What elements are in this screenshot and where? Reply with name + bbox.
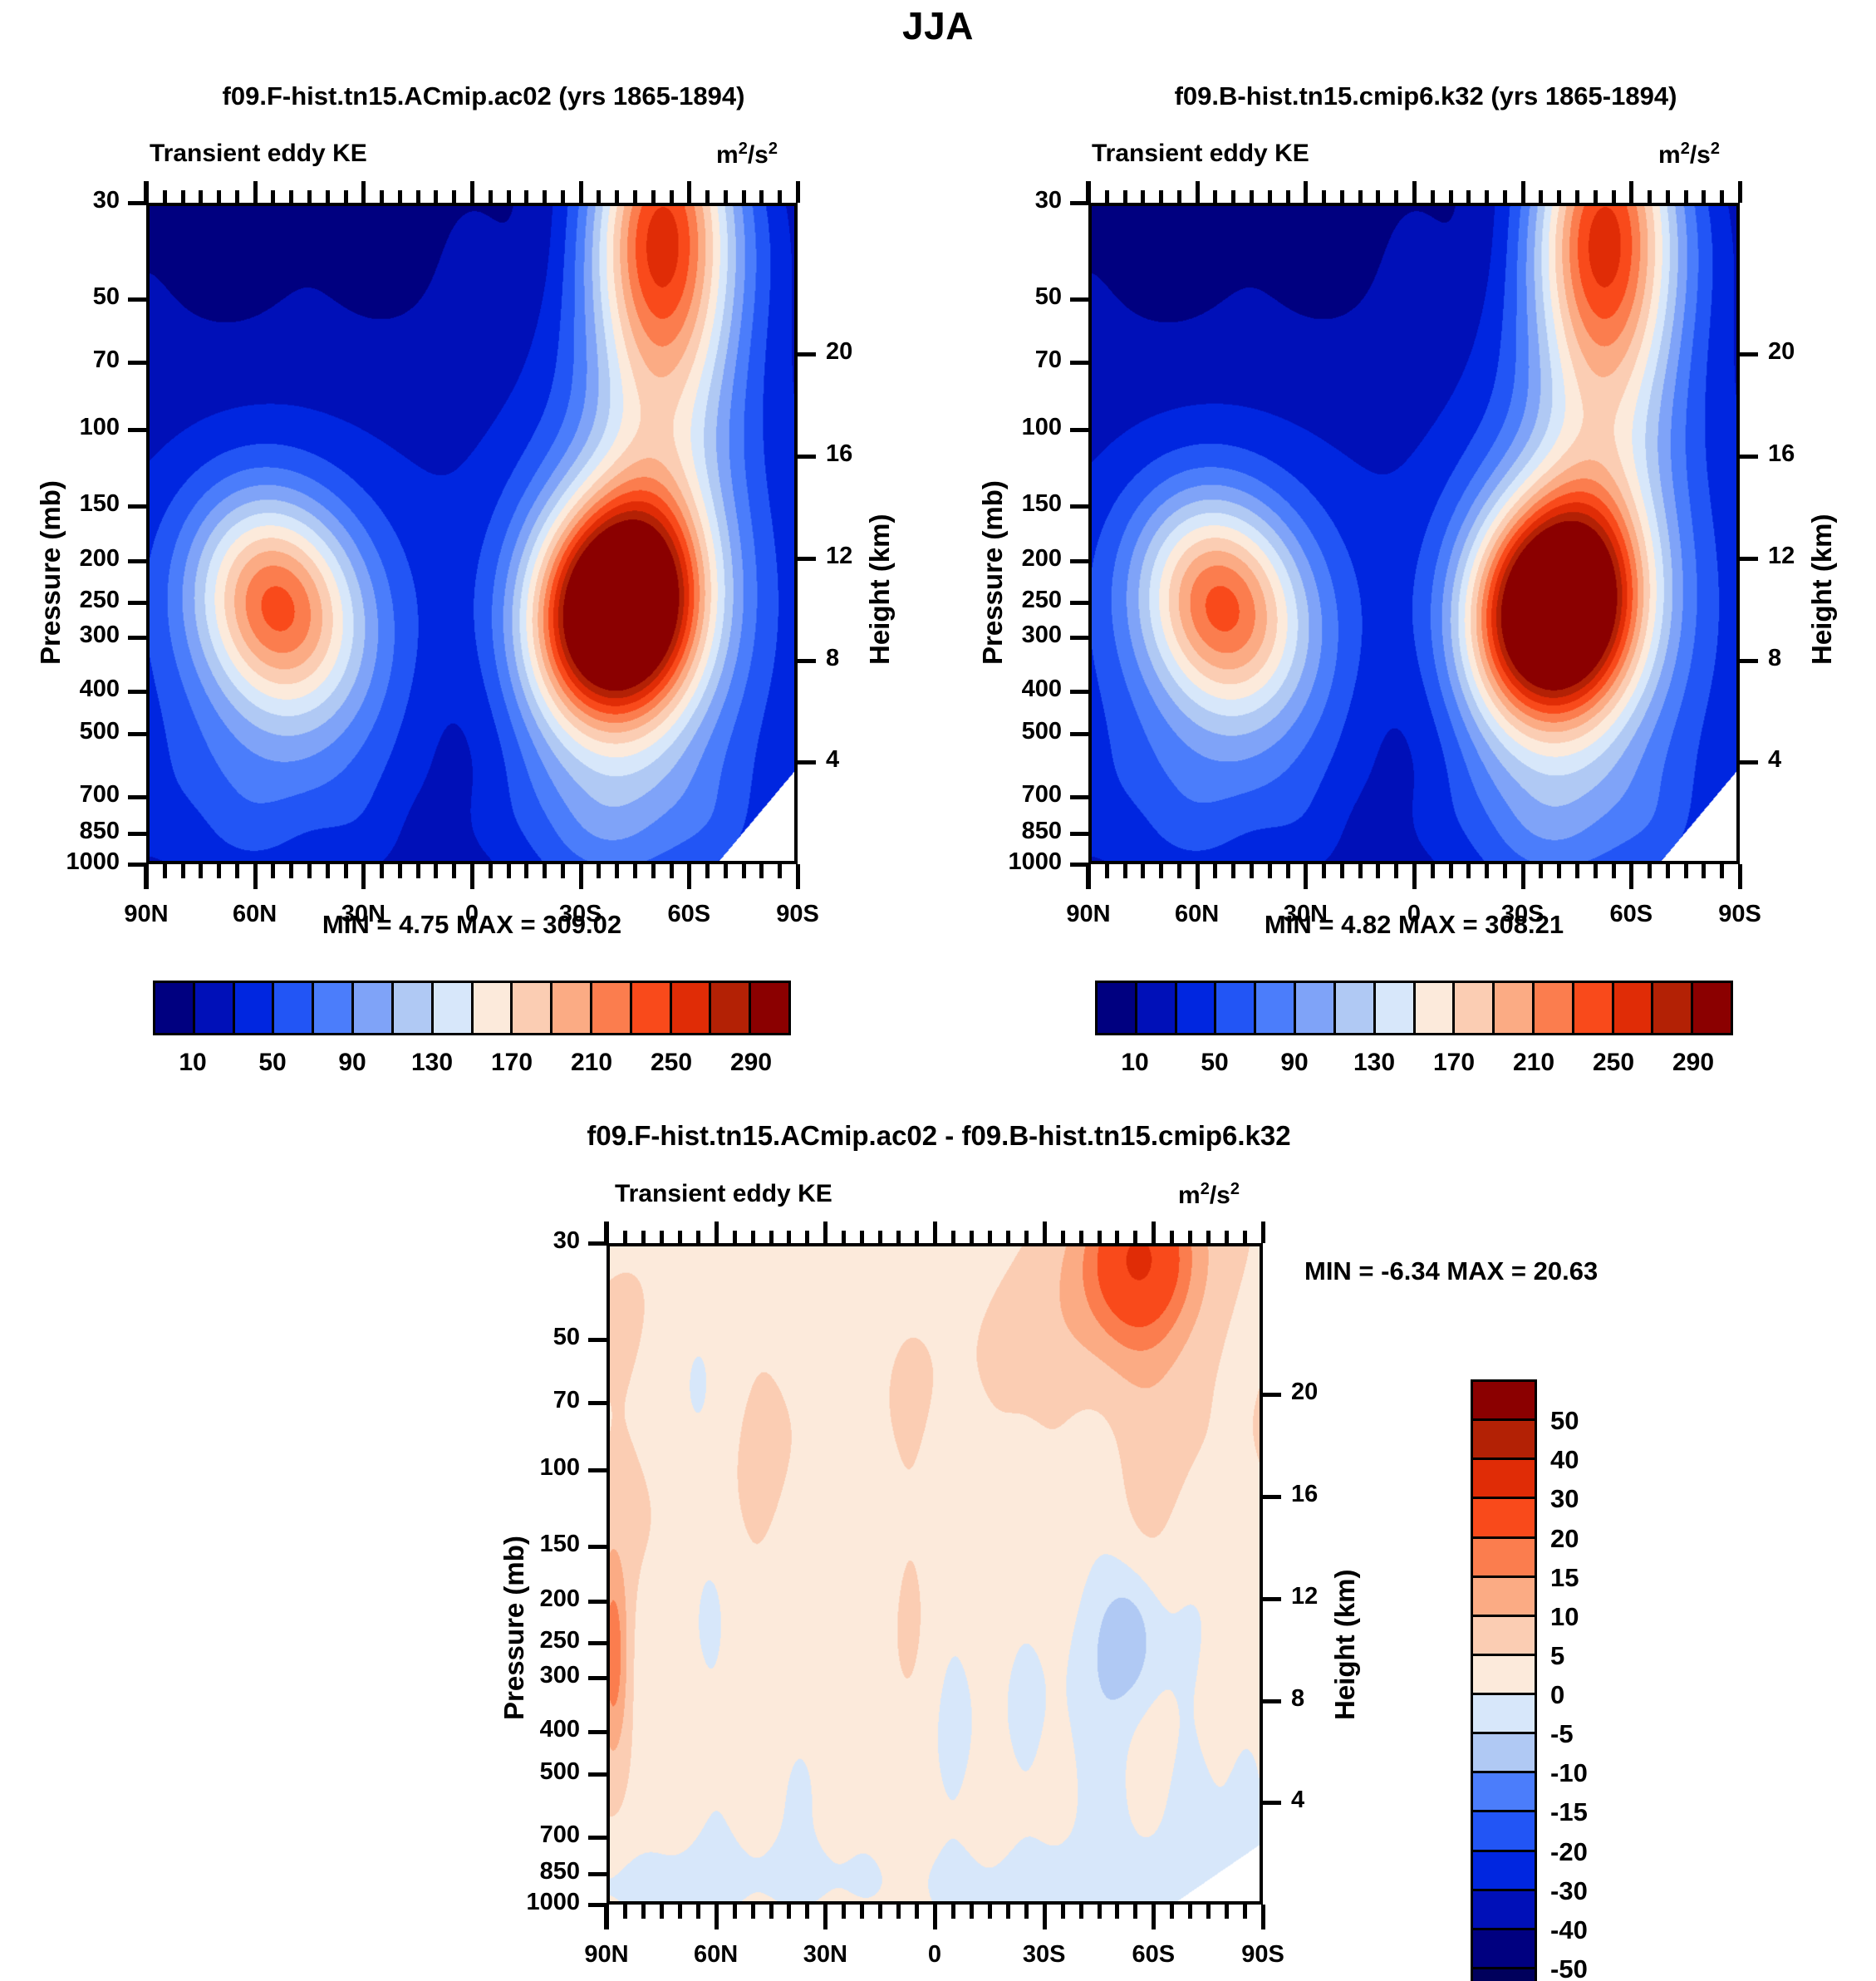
ytick-label: 150 (931, 490, 1062, 518)
y2tick-label: 8 (826, 645, 901, 672)
xtick-top-minor (696, 1231, 700, 1243)
colorbar-cell (235, 983, 275, 1033)
ytick-label: 100 (931, 414, 1062, 441)
colorbar-cell (592, 983, 632, 1033)
ytick-label: 700 (449, 1821, 580, 1849)
colorbar-cell (1296, 983, 1336, 1033)
colorbar-cell (1473, 1617, 1535, 1656)
xtick-bottom-minor (878, 1905, 882, 1919)
colorbar-cell (1256, 983, 1296, 1033)
xtick-top-minor (759, 190, 764, 203)
xtick-top-minor (1159, 190, 1163, 203)
xtick-bottom-minor (489, 864, 493, 878)
ytick-label: 70 (931, 347, 1062, 374)
ytick-label: 500 (449, 1758, 580, 1786)
xtick-bottom-minor (235, 864, 239, 878)
xtick-top-minor (641, 1231, 646, 1243)
xtick-top-minor (507, 190, 511, 203)
xtick-bottom-minor (696, 1905, 700, 1919)
ytick-label: 100 (0, 414, 120, 441)
colorbar-tick-label: -15 (1550, 1797, 1588, 1827)
xtick-top-minor (524, 190, 528, 203)
ytick-major (128, 690, 146, 694)
panel-title-top-left: f09.F-hist.tn15.ACmip.ac02 (yrs 1865-189… (52, 81, 916, 111)
xtick-bottom-minor (1268, 864, 1272, 878)
xtick-top-minor (1648, 190, 1652, 203)
xtick-top-minor (1231, 190, 1235, 203)
plot-area-difference (607, 1243, 1263, 1905)
minmax-difference: MIN = -6.34 MAX = 20.63 (1304, 1256, 1820, 1286)
xtick-top-minor (651, 190, 656, 203)
colorbar-cell (1473, 1734, 1535, 1773)
figure-title: JJA (0, 3, 1876, 48)
colorbar-cell (632, 983, 672, 1033)
ytick-major (128, 832, 146, 836)
xtick-bottom-minor (641, 1905, 646, 1919)
xtick-bottom-major (1521, 864, 1525, 889)
xtick-bottom-minor (1098, 1905, 1102, 1919)
contour-field-top-left (150, 206, 794, 861)
colorbar-cell (1473, 1539, 1535, 1578)
ytick-label: 30 (449, 1227, 580, 1255)
xtick-top-minor (1358, 190, 1363, 203)
y2tick-major (1740, 557, 1758, 561)
xtick-bottom-major (361, 864, 366, 889)
xtick-top-minor (623, 1231, 627, 1243)
colorbar-tick-label: 50 (258, 1049, 286, 1077)
xtick-top-minor (805, 1231, 809, 1243)
xtick-bottom-minor (1702, 864, 1706, 878)
colorbar-tick-label: -30 (1550, 1876, 1588, 1906)
xtick-bottom-major (1152, 1905, 1156, 1929)
colorbar-cell (354, 983, 394, 1033)
ytick-label: 30 (931, 187, 1062, 214)
xtick-top-minor (380, 190, 384, 203)
ytick-major (588, 1545, 607, 1549)
colorbar-cell (1473, 1852, 1535, 1891)
xtick-bottom-minor (615, 864, 619, 878)
colorbar-tick-label: 290 (1672, 1049, 1714, 1077)
xtick-bottom-minor (623, 1905, 627, 1919)
ytick-label: 850 (931, 818, 1062, 845)
colorbar-cell (1574, 983, 1614, 1033)
ytick-label: 200 (0, 545, 120, 573)
y2tick-label: 16 (1291, 1481, 1366, 1508)
y2tick-major (798, 455, 816, 459)
colorbar-tick-label: 30 (1550, 1484, 1579, 1514)
xtick-top-minor (1539, 190, 1543, 203)
colorbar-cell (1137, 983, 1177, 1033)
colorbar-tick-label: 5 (1550, 1641, 1564, 1671)
y2-axis-spine-top (796, 181, 800, 203)
xtick-top-minor (326, 190, 330, 203)
ytick-major (588, 1730, 607, 1734)
xtick-bottom-minor (1431, 864, 1435, 878)
colorbar-tick-label: 10 (1550, 1602, 1579, 1632)
xtick-bottom-minor (1243, 1905, 1247, 1919)
ytick-major (1070, 601, 1088, 605)
xtick-top-minor (1466, 190, 1471, 203)
xtick-bottom-minor (805, 1905, 809, 1919)
y-axis-spine-top (604, 1222, 608, 1243)
colorbar-tick-label: 10 (179, 1049, 206, 1077)
colorbar-cell (1473, 1460, 1535, 1499)
xtick-top-minor (235, 190, 239, 203)
colorbar-tick-label: 10 (1121, 1049, 1148, 1077)
xtick-bottom-minor (1575, 864, 1579, 878)
xtick-bottom-minor (1177, 864, 1181, 878)
xtick-bottom-minor (1376, 864, 1380, 878)
xtick-bottom-minor (507, 864, 511, 878)
y2tick-label: 12 (826, 543, 901, 570)
y2-axis-spine-bottom (1261, 1905, 1265, 1929)
xtick-top-major (1521, 181, 1525, 203)
xtick-bottom-minor (842, 1905, 846, 1919)
colorbar-tick-label: 0 (1550, 1680, 1564, 1710)
ytick-label: 300 (0, 622, 120, 649)
ytick-label: 400 (0, 676, 120, 703)
colorbar-tick-label: 130 (411, 1049, 453, 1077)
xtick-top-minor (1250, 190, 1254, 203)
xtick-bottom-major (823, 1905, 828, 1929)
colorbar-cell (274, 983, 314, 1033)
xtick-bottom-major (1043, 1905, 1047, 1929)
ytick-major (588, 1600, 607, 1604)
xtick-bottom-minor (271, 864, 275, 878)
contour-field-difference (610, 1246, 1260, 1901)
xtick-top-minor (434, 190, 438, 203)
units-text: m2/s2 (1178, 1182, 1240, 1209)
y2tick-major (1263, 1393, 1281, 1397)
xtick-bottom-minor (1503, 864, 1507, 878)
xtick-top-major (1196, 181, 1200, 203)
variable-label-top-right: Transient eddy KE (1092, 140, 1309, 168)
colorbar-cell (474, 983, 513, 1033)
xtick-top-major (933, 1222, 937, 1243)
y2tick-label: 16 (826, 440, 901, 468)
xtick-top-minor (951, 1231, 955, 1243)
ytick-label: 250 (0, 587, 120, 614)
ytick-major (1070, 732, 1088, 736)
xtick-bottom-minor (778, 864, 782, 878)
colorbar-cell (1653, 983, 1693, 1033)
colorbar-cell (434, 983, 474, 1033)
xtick-bottom-minor (1684, 864, 1688, 878)
xtick-top-minor (724, 190, 728, 203)
contour-field-top-right (1092, 206, 1736, 861)
colorbar-cell (394, 983, 434, 1033)
xtick-bottom-minor (1449, 864, 1453, 878)
xtick-bottom-minor (1133, 1905, 1137, 1919)
xtick-bottom-minor (289, 864, 293, 878)
xtick-bottom-minor (896, 1905, 901, 1919)
xtick-top-major (823, 1222, 828, 1243)
ytick-major (588, 1468, 607, 1472)
xtick-top-minor (271, 190, 275, 203)
xtick-bottom-minor (1394, 864, 1398, 878)
ytick-label: 400 (931, 676, 1062, 703)
xtick-bottom-minor (1466, 864, 1471, 878)
colorbar-difference (1471, 1379, 1537, 1981)
ytick-label: 150 (0, 490, 120, 518)
ytick-label: 1000 (931, 848, 1062, 876)
panel-title-difference: f09.F-hist.tn15.ACmip.ac02 - f09.B-hist.… (449, 1120, 1429, 1152)
xtick-top-minor (416, 190, 420, 203)
colorbar-tick-label: -40 (1550, 1915, 1588, 1945)
colorbar-cell (1473, 1695, 1535, 1734)
ytick-label: 400 (449, 1716, 580, 1743)
xtick-top-minor (860, 1231, 864, 1243)
xtick-top-minor (633, 190, 637, 203)
colorbar-cell (513, 983, 552, 1033)
xtick-top-minor (1449, 190, 1453, 203)
plot-area-top-left (146, 203, 798, 864)
xtick-top-minor (1133, 1231, 1137, 1243)
ytick-label: 300 (931, 622, 1062, 649)
xtick-top-minor (1394, 190, 1398, 203)
xtick-top-minor (1243, 1231, 1247, 1243)
ytick-label: 850 (0, 818, 120, 845)
xtick-top-minor (1286, 190, 1290, 203)
xtick-top-minor (561, 190, 565, 203)
ytick-major (588, 1872, 607, 1876)
y-axis-spine-top (144, 181, 148, 203)
ytick-label: 850 (449, 1858, 580, 1885)
ytick-label: 500 (931, 718, 1062, 745)
ytick-label: 250 (931, 587, 1062, 614)
colorbar-top-left (153, 981, 791, 1035)
ytick-label: 700 (0, 781, 120, 809)
colorbar-tick-label: 20 (1550, 1524, 1579, 1554)
ytick-label: 700 (931, 781, 1062, 809)
xtick-bottom-minor (860, 1905, 864, 1919)
xtick-bottom-minor (326, 864, 330, 878)
xtick-bottom-minor (1720, 864, 1724, 878)
colorbar-tick-label: 210 (571, 1049, 612, 1077)
y2tick-major (1740, 455, 1758, 459)
xtick-top-major (1152, 1222, 1156, 1243)
xtick-top-minor (1485, 190, 1489, 203)
colorbar-tick-label: -20 (1550, 1837, 1588, 1867)
y2-axis-title-top-left: Height (km) (864, 514, 896, 666)
xtick-bottom-minor (1061, 1905, 1065, 1919)
colorbar-cell (1416, 983, 1456, 1033)
xtick-top-minor (1206, 1231, 1211, 1243)
xtick-top-minor (1006, 1231, 1010, 1243)
xtick-top-minor (1115, 1231, 1119, 1243)
xtick-top-minor (489, 190, 493, 203)
figure-root: JJA f09.F-hist.tn15.ACmip.ac02 (yrs 1865… (0, 0, 1876, 1981)
colorbar-tick-label: 250 (1593, 1049, 1634, 1077)
xtick-top-minor (344, 190, 348, 203)
xtick-top-minor (1720, 190, 1724, 203)
y2tick-label: 8 (1768, 645, 1843, 672)
xtick-bottom-major (1412, 864, 1417, 889)
colorbar-tick-label: 50 (1201, 1049, 1228, 1077)
colorbar-cell (1473, 1421, 1535, 1460)
xtick-top-minor (289, 190, 293, 203)
colorbar-cell (195, 983, 235, 1033)
ytick-major (588, 1338, 607, 1342)
ytick-label: 70 (449, 1387, 580, 1414)
xtick-top-minor (751, 1231, 755, 1243)
ytick-major (128, 428, 146, 432)
variable-label-top-left: Transient eddy KE (150, 140, 367, 168)
xtick-top-minor (1061, 1231, 1065, 1243)
xtick-top-minor (217, 190, 221, 203)
xtick-bottom-minor (163, 864, 167, 878)
xtick-bottom-minor (724, 864, 728, 878)
xtick-bottom-minor (543, 864, 547, 878)
xtick-bottom-minor (1485, 864, 1489, 878)
colorbar-cell (1614, 983, 1654, 1033)
xtick-bottom-minor (988, 1905, 992, 1919)
xtick-bottom-minor (434, 864, 438, 878)
xtick-top-major (1412, 181, 1417, 203)
colorbar-tick-label: 250 (651, 1049, 692, 1077)
colorbar-tick-label: 170 (491, 1049, 533, 1077)
xtick-top-minor (615, 190, 619, 203)
ytick-label: 70 (0, 347, 120, 374)
y2tick-label: 20 (826, 338, 901, 366)
colorbar-cell (1177, 983, 1217, 1033)
ytick-major (1070, 636, 1088, 640)
xtick-top-minor (1702, 190, 1706, 203)
xtick-top-minor (1170, 1231, 1174, 1243)
xtick-bottom-minor (597, 864, 601, 878)
xtick-top-minor (398, 190, 402, 203)
xtick-top-major (1043, 1222, 1047, 1243)
colorbar-cell (1473, 1930, 1535, 1969)
xtick-top-minor (1098, 1231, 1102, 1243)
ytick-major (1070, 428, 1088, 432)
xtick-top-minor (778, 190, 782, 203)
ytick-major (588, 1836, 607, 1840)
colorbar-tick-label: 290 (730, 1049, 772, 1077)
y2tick-label: 16 (1768, 440, 1843, 468)
xtick-bottom-minor (651, 864, 656, 878)
ytick-major (588, 1401, 607, 1405)
xtick-top-minor (307, 190, 312, 203)
xtick-bottom-minor (1539, 864, 1543, 878)
xtick-top-minor (670, 190, 674, 203)
ytick-major (128, 795, 146, 799)
xtick-bottom-minor (524, 864, 528, 878)
xtick-top-minor (842, 1231, 846, 1243)
ytick-major (588, 1676, 607, 1680)
xtick-bottom-minor (769, 1905, 773, 1919)
xtick-bottom-major (1629, 864, 1633, 889)
xtick-label: 90S (1673, 901, 1806, 928)
units-label-top-right: m2/s2 (1658, 140, 1720, 170)
xtick-bottom-major (715, 1905, 719, 1929)
xtick-bottom-minor (1024, 1905, 1029, 1919)
xtick-top-minor (705, 190, 710, 203)
xtick-top-minor (1557, 190, 1561, 203)
colorbar-cell (1376, 983, 1416, 1033)
xtick-top-major (1304, 181, 1308, 203)
colorbar-cell (1473, 1969, 1535, 1981)
colorbar-cell (1473, 1773, 1535, 1812)
colorbar-cell (552, 983, 592, 1033)
xtick-top-minor (1079, 1231, 1083, 1243)
colorbar-tick-label: 210 (1513, 1049, 1554, 1077)
xtick-bottom-minor (1340, 864, 1344, 878)
ytick-label: 30 (0, 187, 120, 214)
xtick-top-minor (163, 190, 167, 203)
ytick-label: 100 (449, 1454, 580, 1482)
xtick-bottom-minor (915, 1905, 919, 1919)
ytick-label: 1000 (449, 1889, 580, 1916)
xtick-bottom-minor (633, 864, 637, 878)
xtick-top-minor (878, 1231, 882, 1243)
xtick-top-minor (896, 1231, 901, 1243)
xtick-bottom-minor (1358, 864, 1363, 878)
units-text: m2/s2 (1658, 141, 1720, 169)
y2tick-label: 12 (1291, 1583, 1366, 1610)
y2tick-major (1740, 760, 1758, 764)
y-axis-spine-top (1086, 181, 1090, 203)
xtick-bottom-minor (1557, 864, 1561, 878)
xtick-bottom-minor (1141, 864, 1145, 878)
xtick-top-minor (199, 190, 203, 203)
colorbar-cell (1495, 983, 1535, 1033)
colorbar-tick-label: 90 (338, 1049, 366, 1077)
xtick-top-major (579, 181, 583, 203)
xtick-bottom-minor (1648, 864, 1652, 878)
xtick-top-minor (543, 190, 547, 203)
ytick-major (1070, 361, 1088, 365)
colorbar-labels-top-left: 105090130170210250290 (153, 1049, 791, 1082)
colorbar-cell (1473, 1382, 1535, 1421)
xtick-top-minor (1431, 190, 1435, 203)
ytick-major (128, 361, 146, 365)
ytick-major (1070, 559, 1088, 563)
xtick-bottom-minor (452, 864, 456, 878)
colorbar-cell (751, 983, 788, 1033)
colorbar-cell (672, 983, 712, 1033)
colorbar-cell (1473, 1578, 1535, 1617)
xtick-bottom-minor (759, 864, 764, 878)
xtick-label: 90S (731, 901, 864, 928)
ytick-major (128, 732, 146, 736)
y2-axis-title-top-right: Height (km) (1806, 514, 1838, 666)
xtick-top-minor (1666, 190, 1670, 203)
xtick-bottom-major (687, 864, 691, 889)
xtick-top-minor (1684, 190, 1688, 203)
ytick-major (128, 559, 146, 563)
xtick-top-minor (1575, 190, 1579, 203)
y2tick-label: 20 (1291, 1379, 1366, 1406)
ytick-label: 50 (0, 283, 120, 311)
y2tick-major (798, 557, 816, 561)
xtick-bottom-minor (751, 1905, 755, 1919)
xtick-bottom-major (253, 864, 258, 889)
xtick-bottom-minor (951, 1905, 955, 1919)
panel-title-top-right: f09.B-hist.tn15.cmip6.k32 (yrs 1865-1894… (994, 81, 1858, 111)
xtick-bottom-minor (416, 864, 420, 878)
colorbar-tick-label: -5 (1550, 1719, 1574, 1749)
ytick-label: 300 (449, 1662, 580, 1689)
y2-axis-spine-bottom (796, 864, 800, 889)
ytick-major (128, 504, 146, 509)
xtick-top-major (715, 1222, 719, 1243)
colorbar-cell (1473, 1812, 1535, 1851)
y2tick-major (1740, 352, 1758, 356)
ytick-major (1070, 504, 1088, 509)
colorbar-cell (1098, 983, 1137, 1033)
xtick-bottom-minor (398, 864, 402, 878)
